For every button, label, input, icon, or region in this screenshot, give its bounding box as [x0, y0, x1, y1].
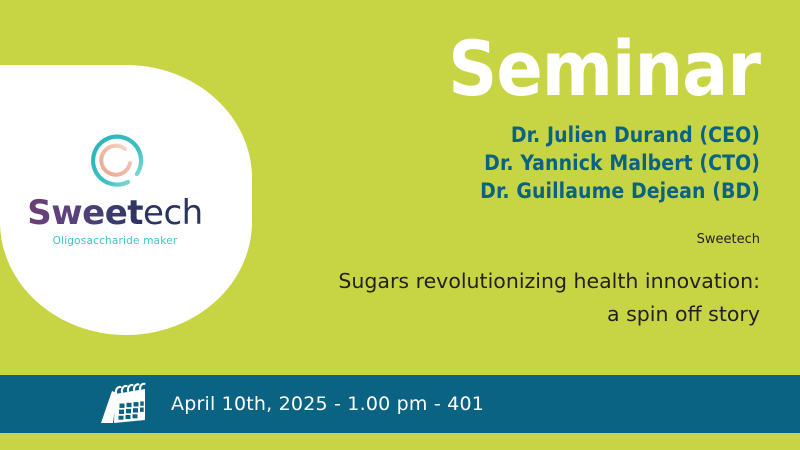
logo-tagline: Oligosaccharide maker [0, 235, 230, 247]
speaker-name: Dr. Julien Durand (CEO) [240, 122, 760, 150]
page-title: Seminar [240, 34, 760, 104]
logo-wordmark-light: ech [143, 193, 203, 233]
speaker-name: Dr. Guillaume Dejean (BD) [240, 178, 760, 206]
logo-wordmark: Sweetech [0, 196, 230, 230]
calendar-icon [95, 382, 149, 426]
logo-wordmark-bold: Sweet [27, 193, 143, 233]
affiliation-label: Sweetech [240, 232, 760, 247]
poster-content: Seminar Dr. Julien Durand (CEO) Dr. Yann… [240, 34, 760, 331]
event-details-band: April 10th, 2025 - 1.00 pm - 401 [0, 375, 800, 433]
sweetech-circular-arcs-logo [82, 130, 148, 192]
company-logo: Sweetech Oligosaccharide maker [0, 130, 230, 247]
event-details-text: April 10th, 2025 - 1.00 pm - 401 [171, 393, 484, 415]
speaker-list: Dr. Julien Durand (CEO) Dr. Yannick Malb… [240, 122, 760, 206]
speaker-name: Dr. Yannick Malbert (CTO) [240, 150, 760, 178]
talk-title-line-2: a spin off story [240, 298, 760, 331]
seminar-poster: Sweetech Oligosaccharide maker Seminar D… [0, 0, 800, 450]
talk-title-line-1: Sugars revolutionizing health innovation… [240, 265, 760, 298]
